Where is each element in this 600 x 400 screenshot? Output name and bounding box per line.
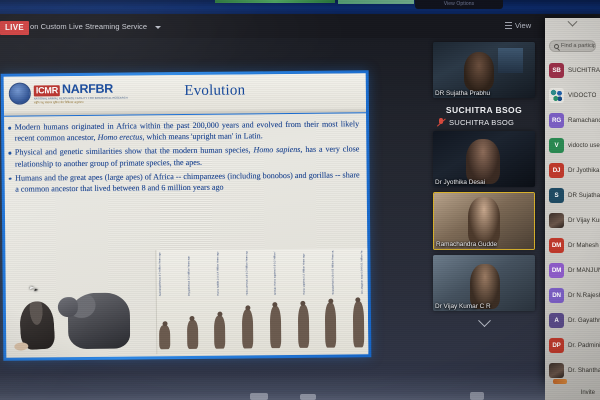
keyboard-key bbox=[300, 394, 316, 400]
great-apes-photo bbox=[5, 250, 156, 355]
participant-row[interactable]: RGRamachandra Gudde bbox=[545, 108, 600, 133]
video-tile[interactable]: Ramachandra Gudde bbox=[433, 192, 535, 250]
hominid-figures bbox=[159, 291, 365, 349]
shared-screen-slide[interactable]: ICMRNARFBR NATIONAL ANIMAL RESOURCE FACI… bbox=[1, 70, 372, 361]
participant-row[interactable]: DJDr Jyothika Desai bbox=[545, 158, 600, 183]
search-participant-input[interactable]: Find a participant bbox=[549, 40, 596, 52]
slide-images: Australopithecus 4-2 million Years ago D… bbox=[5, 248, 368, 355]
avatar bbox=[549, 363, 564, 378]
live-destination-label: on Custom Live Streaming Service bbox=[30, 22, 147, 31]
avatar: DM bbox=[549, 263, 564, 278]
participant-row[interactable]: SDR Sujatha Prabhu bbox=[545, 183, 600, 208]
participant-name: Dr MANJUNATH bbox=[568, 267, 600, 274]
hominid-figure bbox=[270, 306, 281, 348]
participant-name: Ramachandra Gudde bbox=[568, 117, 600, 124]
video-tile-name: DR Sujatha Prabhu bbox=[435, 90, 490, 97]
view-button-label: View bbox=[515, 21, 531, 30]
show-more-participants-button[interactable] bbox=[466, 316, 502, 330]
evolution-label: Homo sapiens 0.2 Million Years ago bbox=[303, 251, 306, 295]
avatar bbox=[549, 88, 564, 103]
participant-row[interactable]: DPDr. Padmini bbox=[545, 333, 600, 358]
evolution-label: Cro-Magnon man 0.04-0.01 Million Years a… bbox=[360, 250, 363, 294]
keyboard-key bbox=[250, 393, 268, 400]
participant-name: SUCHITRA BSOG bbox=[568, 67, 600, 74]
evolution-label: Neanderthal 0.23-0.03 Million Years ago bbox=[331, 251, 334, 295]
participant-row[interactable]: Dr Vijay Kumar C R bbox=[545, 208, 600, 233]
hominid-figure bbox=[297, 305, 308, 348]
hominid-figure bbox=[242, 309, 253, 348]
participant-name: DR Sujatha Prabhu bbox=[568, 192, 600, 199]
avatar: S bbox=[549, 188, 564, 203]
participant-name: Dr. Padmini bbox=[568, 342, 600, 349]
evolution-label: Archaic Homo sapiens 0.6-0.2 Million Yea… bbox=[274, 251, 277, 295]
video-tile-name: Ramachandra Gudde bbox=[436, 241, 497, 248]
avatar: DN bbox=[549, 288, 564, 303]
video-tile[interactable]: DR Sujatha Prabhu bbox=[433, 42, 535, 98]
view-options-button[interactable]: View Options bbox=[415, 0, 503, 9]
active-speaker-name: SUCHITRA BSOG bbox=[449, 118, 514, 127]
slide-bullet: Physical and genetic similarities show t… bbox=[8, 144, 359, 170]
video-tile-column: DR Sujatha Prabhu SUCHITRA BSOG SUCHITRA… bbox=[433, 42, 535, 372]
participant-row[interactable]: SBSUCHITRA BSOG bbox=[545, 58, 600, 83]
hominid-figure bbox=[353, 301, 364, 347]
browser-tab-sliver bbox=[215, 0, 335, 3]
avatar: DJ bbox=[549, 163, 564, 178]
slide-bullet: Modern humans originated in Africa withi… bbox=[8, 118, 359, 144]
active-speaker-banner: SUCHITRA BSOG bbox=[433, 105, 535, 115]
participants-panel: Find a participant SBSUCHITRA BSOGVIDOCT… bbox=[545, 18, 600, 400]
participant-name: VIDOCTO bbox=[568, 92, 596, 99]
screen-photo: View Options LIVE on Custom Live Streami… bbox=[0, 0, 600, 400]
live-badge: LIVE bbox=[0, 21, 29, 35]
evolution-label: Homo habilis 2.4-1.4 Million Years ago bbox=[216, 252, 219, 296]
search-icon bbox=[554, 44, 559, 49]
active-speaker-row: SUCHITRA BSOG bbox=[433, 118, 535, 127]
participant-name: Dr Mahesh bbox=[568, 242, 599, 249]
participant-row[interactable]: DMDr MANJUNATH bbox=[545, 258, 600, 283]
invite-accent bbox=[553, 379, 567, 384]
keyboard-key bbox=[470, 392, 484, 400]
logo-subtitle-hi: राष्ट्रीय पशु संसाधन सुविधा जैव चिकित्सा… bbox=[34, 101, 128, 104]
participant-row[interactable]: DNDr N.Rajeshwari bbox=[545, 283, 600, 308]
avatar: RG bbox=[549, 113, 564, 128]
hominid-figure bbox=[159, 325, 170, 349]
participant-row[interactable]: DMDr Mahesh bbox=[545, 233, 600, 258]
human-evolution-diagram: Australopithecus 4-2 million Years ago D… bbox=[155, 248, 368, 354]
avatar: A bbox=[549, 313, 564, 328]
slide-title: Evolution bbox=[4, 81, 366, 101]
evolution-label: Australopithecus 4-2 million Years ago bbox=[158, 252, 161, 296]
mic-muted-icon bbox=[437, 118, 445, 127]
hominid-figure bbox=[325, 303, 336, 348]
avatar: DM bbox=[549, 238, 564, 253]
participant-row[interactable]: ADr. Gayathri bbox=[545, 308, 600, 333]
grid-icon bbox=[505, 22, 512, 29]
bullet-dot-icon bbox=[8, 127, 11, 130]
avatar bbox=[549, 213, 564, 228]
video-tile[interactable]: Dr Vijay Kumar C R bbox=[433, 255, 535, 311]
avatar: V bbox=[549, 138, 564, 153]
gorilla-figure bbox=[68, 293, 131, 350]
slide-bullet-text: Physical and genetic similarities show t… bbox=[15, 144, 360, 170]
chimpanzee-figure bbox=[19, 300, 56, 350]
chevron-down-icon[interactable] bbox=[155, 26, 161, 29]
avatar: DP bbox=[549, 338, 564, 353]
slide-bullet-text: Modern humans originated in Africa withi… bbox=[15, 118, 360, 144]
view-layout-button[interactable]: View bbox=[505, 21, 531, 30]
browser-tab-sliver-2 bbox=[338, 0, 414, 4]
avatar: SB bbox=[549, 63, 564, 78]
hominid-figure bbox=[214, 316, 225, 349]
keyboard-foreground bbox=[0, 374, 545, 400]
slide-body: Modern humans originated in Africa withi… bbox=[4, 113, 367, 195]
evolution-label: Dryopithecus 3-2 Million Years ago bbox=[187, 252, 190, 296]
panel-collapse-button[interactable] bbox=[545, 18, 600, 30]
participant-name: Dr Vijay Kumar C R bbox=[568, 217, 600, 224]
participant-name: Dr Jyothika Desai bbox=[568, 167, 600, 174]
evolution-stage-labels: Australopithecus 4-2 million Years ago D… bbox=[158, 250, 363, 296]
participant-name: vidocto user bbox=[568, 142, 600, 149]
participant-row[interactable]: VIDOCTO bbox=[545, 83, 600, 108]
evolution-label: Homo erectus 1.8-0.3 Million Years ago bbox=[245, 251, 248, 295]
bullet-dot-icon bbox=[8, 152, 11, 155]
search-placeholder: Find a participant bbox=[561, 43, 595, 49]
slide-bullet: Humans and the great apes (large apes) o… bbox=[9, 169, 360, 195]
slide-header: ICMRNARFBR NATIONAL ANIMAL RESOURCE FACI… bbox=[4, 73, 366, 116]
chevron-down-icon bbox=[568, 18, 578, 26]
participant-name: Dr. Shantha bbox=[568, 367, 600, 374]
participant-name: Dr. Gayathri bbox=[568, 317, 600, 324]
invite-button[interactable]: Invite bbox=[553, 390, 597, 396]
hominid-figure bbox=[187, 320, 198, 349]
participant-name: Dr N.Rajeshwari bbox=[568, 292, 600, 299]
chevron-down-icon bbox=[478, 314, 491, 327]
participant-row[interactable]: Vvidocto user bbox=[545, 133, 600, 158]
video-tile-name: Dr Vijay Kumar C R bbox=[435, 303, 491, 310]
video-tile-name: Dr Jyothika Desai bbox=[435, 179, 485, 186]
bullet-dot-icon bbox=[9, 177, 12, 180]
video-tile[interactable]: Dr Jyothika Desai bbox=[433, 131, 535, 187]
slide-bullet-text: Humans and the great apes (large apes) o… bbox=[15, 169, 360, 195]
participants-list: SBSUCHITRA BSOGVIDOCTORGRamachandra Gudd… bbox=[545, 58, 600, 383]
